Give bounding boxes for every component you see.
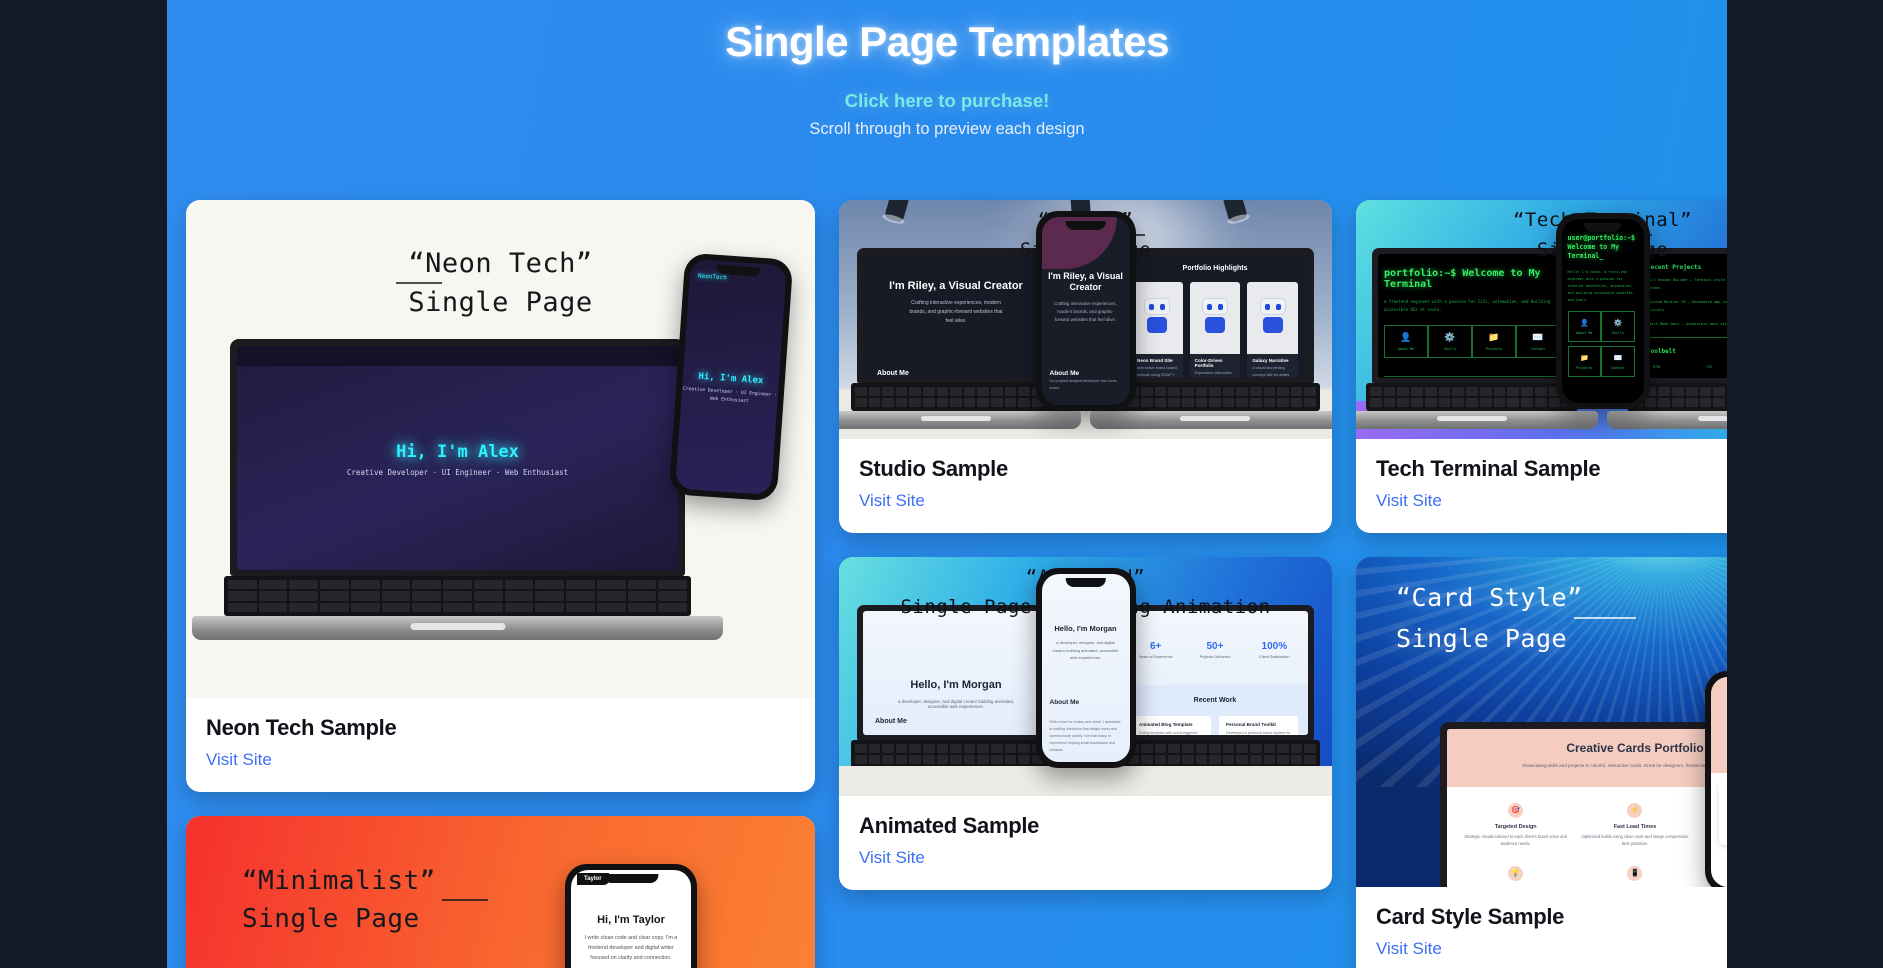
project-name: Neon Brand Site (1137, 358, 1178, 363)
laptop-base (839, 411, 1081, 429)
phone-screen: Creative Cards Portfolio Showcasing skil… (1711, 677, 1727, 887)
laptop-keyboard (1110, 740, 1320, 768)
template-grid: “Neon Tech” Single Page Hi, I (186, 200, 1708, 968)
phone-screen: Hello, I'm Morgan a developer, designer,… (1042, 574, 1130, 762)
laptop-base (192, 616, 723, 640)
gear-icon: ⚙️ (1602, 319, 1634, 327)
page-title: Single Page Templates (167, 18, 1727, 66)
nav-label: About Me (1569, 331, 1601, 335)
visit-site-link[interactable]: Visit Site (1376, 939, 1442, 959)
project-name: Galaxy Narrative (1252, 358, 1293, 363)
animated-site-preview: Hello, I'm Morgan a developer, designer,… (863, 611, 1049, 735)
divider (1384, 376, 1560, 377)
phone-about-body: I'm a hybrid designer/developer who love… (1050, 378, 1122, 391)
hero-heading: Creative Cards Portfolio (1457, 741, 1727, 755)
feature-name: Fast Load Times (1711, 878, 1727, 884)
work-name: Animated Blog Template (1139, 722, 1204, 727)
thumbnail-animated: “Animated” Single Page – Loading Animati… (839, 557, 1332, 796)
folder-icon: 📁 (1473, 333, 1515, 343)
work-card: Personal Brand Toolkit Developed a perso… (1219, 716, 1298, 735)
phone-feature-card: ⚡ Fast Load Times Optimized builds using… (1711, 857, 1727, 887)
template-card-minimalist[interactable]: “Minimalist” Single Page Taylor Hi, I'm … (186, 816, 815, 968)
nav-label: Projects (1569, 366, 1601, 370)
phone-mockup: Creative Cards Portfolio Showcasing skil… (1705, 671, 1727, 887)
phone-about-body: With a love for motion and detail, I spe… (1050, 719, 1122, 754)
hero-subtext: Showcasing skills and projects in colorf… (1501, 762, 1727, 771)
terminal-nav-item[interactable]: 👤 About Me (1568, 311, 1602, 342)
laptop-mockup: Creative Cards Portfolio Showcasing skil… (1440, 722, 1727, 887)
nav-label: Skills (1429, 347, 1471, 351)
phone-screen: user@portfolio:~$ Welcome to My Terminal… (1562, 219, 1644, 403)
stat-value: 100% (1245, 641, 1304, 652)
nav-label: About Me (1385, 347, 1427, 351)
phone-mockup: Hello, I'm Morgan a developer, designer,… (1036, 568, 1136, 768)
project-item: CLI Resume Builder — Terminal-style resu… (1639, 271, 1727, 293)
about-heading: About Me (877, 370, 1049, 377)
phone-header-band: Creative Cards Portfolio Showcasing skil… (1711, 677, 1727, 773)
laptop-mockup-left: portfolio:~$ Welcome to My Terminal a fr… (1372, 248, 1572, 429)
phone-terminal-intro: Hello! I'm Casey, a front-end engineer w… (1562, 262, 1644, 305)
project-card: Neon Brand Site Interactive brand-based … (1132, 282, 1183, 378)
project-card-list: Neon Brand Site Interactive brand-based … (1122, 272, 1308, 378)
thumb-subtitle: Single Page (1356, 239, 1727, 261)
phone-notch (1065, 578, 1105, 587)
template-card-tech-terminal[interactable]: “Tech Terminal” Single Page portfolio:~$… (1356, 200, 1727, 533)
tool-item: CSS (1706, 365, 1727, 369)
terminal-nav-item[interactable]: 📁 Projects (1472, 325, 1516, 358)
feature-name: Targeted Design (1461, 824, 1570, 830)
project-item: System Monitor UI — Dashboard app inspir… (1639, 293, 1727, 315)
phone-feature-card: 🎯 Targeted Design Strategic visuals tail… (1719, 782, 1727, 845)
laptop-mockup-left: Hello, I'm Morgan a developer, designer,… (857, 605, 1055, 786)
stat-label: Client Satisfaction (1245, 655, 1304, 659)
laptop-keyboard (1110, 383, 1320, 411)
thumbnail-tech-terminal: “Tech Terminal” Single Page portfolio:~$… (1356, 200, 1727, 439)
laptop-screen: Hi, I'm Alex Creative Developer · UI Eng… (237, 346, 678, 570)
mail-icon: ✉️ (1602, 354, 1634, 362)
page-subtitle: Scroll through to preview each design (167, 120, 1727, 139)
phone-hero-heading: Hi, I'm Alex (683, 371, 779, 388)
mobile-icon: 📱 (1627, 866, 1642, 881)
card-body: Tech Terminal Sample Visit Site (1356, 439, 1727, 533)
mail-icon: ✉️ (1517, 333, 1559, 343)
feature-grid: 🎯 Targeted Design Strategic visuals tail… (1447, 787, 1727, 887)
feature-item: ⚡ Fast Load Times Optimized builds using… (1580, 803, 1689, 848)
laptop-keyboard (1366, 383, 1578, 411)
work-card-list: Animated Blog Template A blog template w… (1122, 704, 1308, 735)
thumb-subtitle: Single Page (1396, 624, 1727, 653)
template-card-animated[interactable]: “Animated” Single Page – Loading Animati… (839, 557, 1332, 890)
toolbelt-heading: Toolbelt (1639, 338, 1727, 355)
card-title: Studio Sample (859, 456, 1312, 482)
stat-item: 100% Client Satisfaction (1245, 641, 1304, 659)
robot-illustration-icon (1142, 298, 1172, 338)
user-icon: 👤 (1569, 319, 1601, 327)
project-thumbnail (1247, 282, 1298, 354)
phone-browser-tab: Taylor (577, 873, 609, 885)
page-content-column: Single Page Templates Click here to purc… (167, 0, 1727, 968)
thumb-rule (1574, 617, 1636, 619)
laptop-mockup-right: Portfolio Highlights (1116, 248, 1314, 429)
thumb-rule (396, 282, 442, 284)
thumbnail-neon-tech: “Neon Tech” Single Page Hi, I (186, 200, 815, 698)
stat-value: 50+ (1185, 641, 1244, 652)
thumb-quote: “Neon Tech” (186, 248, 815, 279)
neon-site-preview: Hi, I'm Alex Creative Developer · UI Eng… (237, 346, 678, 570)
thumb-heading: “Minimalist” Single Page (186, 866, 815, 934)
thumb-quote: “Card Style” (1396, 583, 1727, 612)
template-card-card-style[interactable]: “Card Style” Single Page Creative Cards … (1356, 557, 1727, 968)
stats-row: 6+ Years of Experience 50+ Projects Deli… (1122, 611, 1308, 659)
thumb-subtitle: Single Page (186, 287, 815, 318)
project-caption: Neon Brand Site Interactive brand-based … (1132, 354, 1183, 378)
thumbnail-studio: “Studio” Single Page I'm Riley, a Visual… (839, 200, 1332, 439)
animated-work-preview: 6+ Years of Experience 50+ Projects Deli… (1122, 611, 1308, 735)
card-title: Animated Sample (859, 813, 1312, 839)
phone-mockup: user@portfolio:~$ Welcome to My Terminal… (1556, 213, 1650, 409)
laptop-trackpad-notch (410, 623, 505, 630)
nav-label: Skills (1602, 331, 1634, 335)
site-header-band: Creative Cards Portfolio Showcasing skil… (1447, 729, 1727, 787)
hero-subtext: Crafting interactive experiences, modern… (905, 299, 1007, 326)
card-title: Neon Tech Sample (206, 715, 795, 741)
work-desc: Developed a personal brand system for a … (1226, 730, 1291, 735)
work-heading: Recent Work (1122, 697, 1308, 704)
laptop-keyboard (224, 576, 691, 616)
site-navbar (237, 346, 678, 366)
robot-illustration-icon (1200, 298, 1230, 338)
phone-mockup: I'm Riley, a Visual Creator Crafting int… (1036, 211, 1136, 411)
thumb-quote: “Tech Terminal” (1356, 209, 1727, 231)
feature-item: 📱 Fully Responsive Beautiful on any devi… (1580, 866, 1689, 887)
project-thumbnail (1132, 282, 1183, 354)
project-name: Color-Driven Portfolio (1195, 358, 1236, 368)
terminal-nav-item[interactable]: ⚙️ Skills (1601, 311, 1635, 342)
user-icon: 👤 (1385, 333, 1427, 343)
work-name: Personal Brand Toolkit (1226, 722, 1291, 727)
phone-hero-subtext: Creative Developer · UI Engineer · Web E… (681, 386, 778, 408)
phone-hero-subtext: Crafting interactive experiences, modern… (1051, 300, 1121, 324)
feature-name: Fast Load Times (1580, 824, 1689, 830)
thumb-rule (442, 899, 488, 901)
thumb-heading: “Neon Tech” Single Page (186, 248, 815, 318)
template-card-studio[interactable]: “Studio” Single Page I'm Riley, a Visual… (839, 200, 1332, 533)
stat-label: Projects Delivered (1185, 655, 1244, 659)
terminal-nav-item[interactable]: ✉️ Contact (1601, 346, 1635, 377)
laptop-keyboard (851, 740, 1061, 768)
project-desc: Interactive brand-based website using GS… (1137, 365, 1178, 378)
studio-portfolio-preview: Portfolio Highlights (1122, 254, 1308, 378)
stat-item: 50+ Projects Delivered (1185, 641, 1244, 659)
nav-label: Contact (1517, 347, 1559, 351)
terminal-nav: 👤 About Me ⚙️ Skills 📁 (1378, 315, 1566, 358)
project-desc: A visual storytelling concept site for a… (1252, 365, 1293, 378)
laptop-screen-bezel: Hi, I'm Alex Creative Developer · UI Eng… (230, 339, 685, 576)
visit-site-link[interactable]: Visit Site (206, 750, 272, 770)
phone-hero-subtext: a developer, designer, and digital creat… (1053, 639, 1119, 662)
tool-item: HTML (1653, 365, 1706, 369)
purchase-link[interactable]: Click here to purchase! (167, 90, 1727, 112)
laptop-mockup: Hi, I'm Alex Creative Developer · UI Eng… (230, 339, 685, 640)
terminal-nav-item[interactable]: 📁 Projects (1568, 346, 1602, 377)
target-icon: 🎯 (1508, 803, 1523, 818)
thumb-heading: “Card Style” Single Page (1356, 583, 1727, 653)
toolbelt-row: HTML CSS JavaScript (1639, 355, 1727, 369)
work-card: Animated Blog Template A blog template w… (1132, 716, 1211, 735)
card-title: Tech Terminal Sample (1376, 456, 1727, 482)
hero-heading: Hi, I'm Alex (237, 442, 678, 462)
hero-subtext: a developer, designer, and digital creat… (889, 699, 1023, 709)
phone-about-heading: About Me (1050, 370, 1080, 377)
phone-about-heading: About Me (1050, 699, 1080, 706)
laptop-base (1090, 411, 1332, 429)
feature-desc: Strategic visuals tailored to each clien… (1461, 833, 1570, 848)
laptop-mockup-left: I'm Riley, a Visual Creator Crafting int… (857, 248, 1055, 429)
visit-site-link[interactable]: Visit Site (859, 491, 925, 511)
work-desc: A blog template with scroll-triggered an… (1139, 730, 1204, 735)
card-body: Neon Tech Sample Visit Site (186, 698, 815, 792)
grid-column-1: “Neon Tech” Single Page Hi, I (186, 200, 815, 968)
toolbelt-row: Node.js Git Figma (1639, 369, 1727, 378)
folder-icon: 📁 (1569, 354, 1601, 362)
project-card: Color-Driven Portfolio Expressive intera… (1190, 282, 1241, 378)
terminal-projects-preview: Recent Projects CLI Resume Builder — Ter… (1639, 254, 1727, 378)
thumb-subtitle: Single Page (242, 904, 815, 934)
robot-illustration-icon (1258, 298, 1288, 338)
phone-hero-heading: Creative Cards Portfolio (1721, 695, 1727, 720)
card-body: Studio Sample Visit Site (839, 439, 1332, 533)
thumbnail-minimalist: “Minimalist” Single Page Taylor Hi, I'm … (186, 816, 815, 968)
laptop-mockup-right: 6+ Years of Experience 50+ Projects Deli… (1116, 605, 1314, 786)
phone-notch (1584, 223, 1622, 232)
card-title: Card Style Sample (1376, 904, 1727, 930)
laptop-base (839, 768, 1081, 786)
phone-screen: I'm Riley, a Visual Creator Crafting int… (1042, 217, 1130, 405)
site-hero: Hi, I'm Alex Creative Developer · UI Eng… (237, 442, 678, 477)
lightbulb-icon: 💡 (1508, 866, 1523, 881)
grid-column-3: “Tech Terminal” Single Page portfolio:~$… (1356, 200, 1727, 968)
feature-item: 🎯 Targeted Design Strategic visuals tail… (1461, 803, 1570, 848)
terminal-nav-item[interactable]: 👤 About Me (1384, 325, 1428, 358)
project-caption: Galaxy Narrative A visual storytelling c… (1247, 354, 1298, 378)
page-header: Single Page Templates Click here to purc… (167, 0, 1727, 139)
lightning-icon: ⚡ (1627, 803, 1642, 818)
project-thumbnail (1190, 282, 1241, 354)
terminal-nav-item[interactable]: ✉️ Contact (1516, 325, 1560, 358)
phone-hero-subtext: I write clean code and clear copy. I'm a… (583, 933, 679, 963)
card-body: Animated Sample Visit Site (839, 796, 1332, 890)
laptop-base (1356, 411, 1598, 429)
phone-notch (1065, 221, 1105, 230)
visit-site-link[interactable]: Visit Site (1376, 491, 1442, 511)
phone-projects-heading: Recent Projects (1562, 377, 1644, 403)
cardstyle-site-preview: Creative Cards Portfolio Showcasing skil… (1447, 729, 1727, 887)
thumb-quote: “Minimalist” (242, 866, 815, 896)
thumb-heading: “Tech Terminal” Single Page (1356, 209, 1727, 261)
terminal-phone-preview: user@portfolio:~$ Welcome to My Terminal… (1562, 219, 1644, 403)
project-card: Galaxy Narrative A visual storytelling c… (1247, 282, 1298, 378)
feature-desc: Optimized builds using clean code and im… (1580, 833, 1689, 848)
gear-icon: ⚙️ (1429, 333, 1471, 343)
phone-hero: Hi, I'm Alex Creative Developer · UI Eng… (681, 371, 779, 408)
recent-work-band: Recent Work Animated Blog Template A blo… (1122, 685, 1308, 735)
studio-site-preview: I'm Riley, a Visual Creator Crafting int… (863, 254, 1049, 378)
card-body: Card Style Sample Visit Site (1356, 887, 1727, 968)
laptop-base (1607, 411, 1727, 429)
thumbnail-card-style: “Card Style” Single Page Creative Cards … (1356, 557, 1727, 887)
template-card-neon-tech[interactable]: “Neon Tech” Single Page Hi, I (186, 200, 815, 792)
terminal-site-preview: portfolio:~$ Welcome to My Terminal a fr… (1378, 254, 1566, 378)
terminal-nav-item[interactable]: ⚙️ Skills (1428, 325, 1472, 358)
project-item: Dark Mode Docs — Accessible docs site wi… (1639, 315, 1727, 329)
feature-item: 💡 Creative Concepts Custom graphics, sub… (1461, 866, 1570, 887)
terminal-intro: a frontend engineer with a passion for C… (1378, 290, 1566, 315)
laptop-base (1090, 768, 1332, 786)
about-heading: About Me (875, 718, 907, 725)
page-root: Single Page Templates Click here to purc… (0, 0, 1883, 968)
hero-subtext: Creative Developer · UI Engineer · Web E… (237, 468, 678, 477)
project-desc: Expressive interactive palettes and dyna… (1195, 370, 1236, 378)
visit-site-link[interactable]: Visit Site (859, 848, 925, 868)
hero-heading: Hello, I'm Morgan (863, 611, 1049, 691)
nav-label: Projects (1473, 347, 1515, 351)
nav-label: Contact (1602, 366, 1634, 370)
laptop-keyboard (851, 383, 1061, 411)
project-caption: Color-Driven Portfolio Expressive intera… (1190, 354, 1241, 378)
grid-column-2: “Studio” Single Page I'm Riley, a Visual… (839, 200, 1332, 890)
